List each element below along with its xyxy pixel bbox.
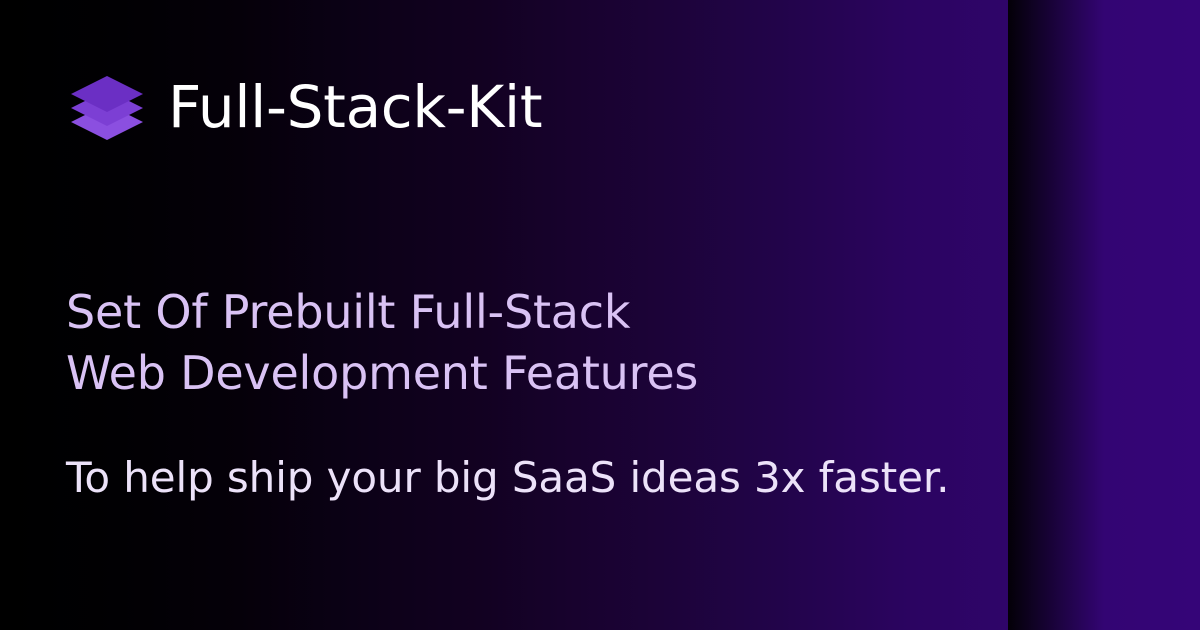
layers-icon [68,68,146,146]
brand-row: Full-Stack-Kit [68,68,542,146]
subheadline: To help ship your big SaaS ideas 3x fast… [66,452,949,504]
headline: Set Of Prebuilt Full-Stack Web Developme… [66,282,698,404]
og-card: Full-Stack-Kit Set Of Prebuilt Full-Stac… [0,0,1200,630]
brand-title: Full-Stack-Kit [168,78,542,136]
headline-line-1: Set Of Prebuilt Full-Stack [66,282,698,343]
headline-line-2: Web Development Features [66,343,698,404]
